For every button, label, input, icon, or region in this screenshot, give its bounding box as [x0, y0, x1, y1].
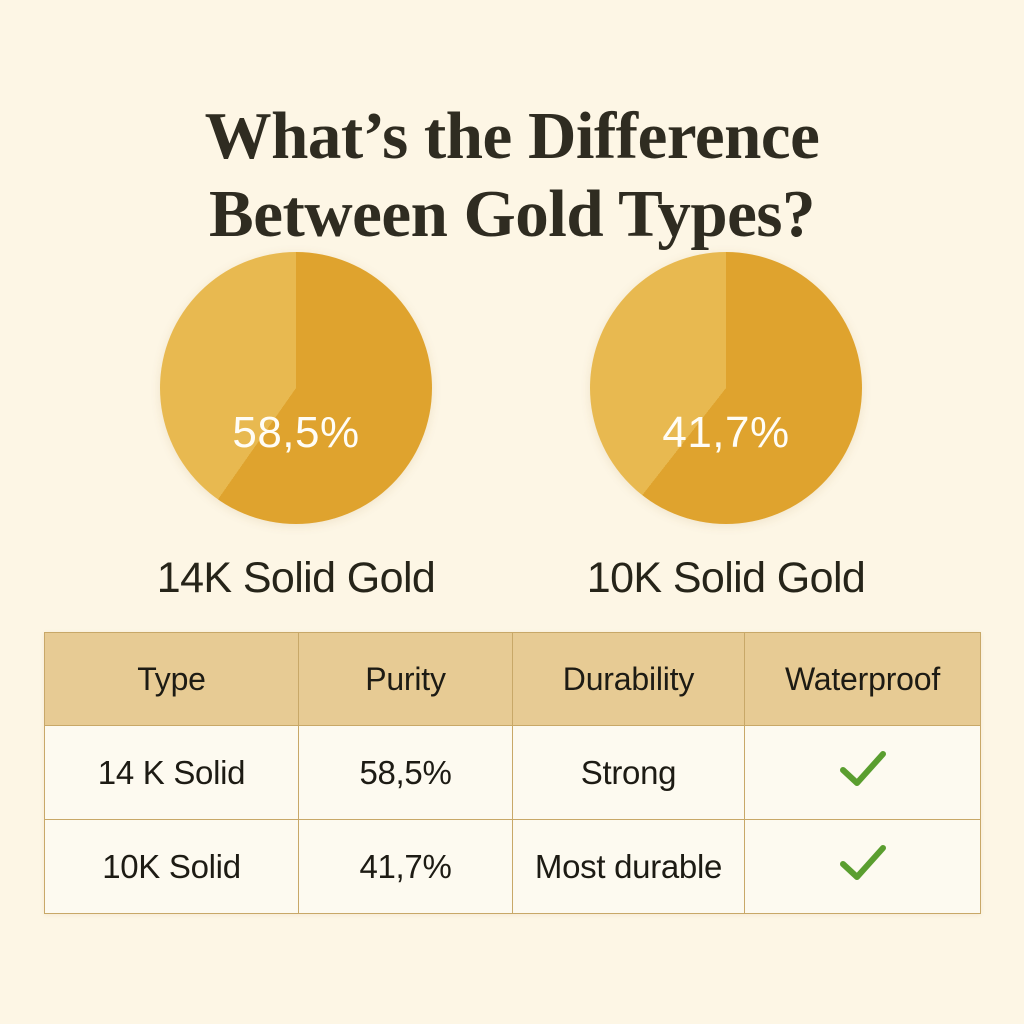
pie-label-14k: 58,5% — [160, 409, 432, 457]
column-header-waterproof: Waterproof — [745, 633, 981, 726]
check-icon — [839, 843, 887, 883]
table-header: Type Purity Durability Waterproof — [45, 633, 981, 726]
column-header-purity: Purity — [299, 633, 513, 726]
page-title: What’s the Difference Between Gold Types… — [0, 97, 1024, 253]
comparison-table: Type Purity Durability Waterproof 14 K S… — [44, 632, 981, 914]
pie-chart-14k: 58,5% — [160, 252, 432, 524]
chart-block-10k: 41,7% 10K Solid Gold — [556, 252, 896, 603]
pie-chart-10k: 41,7% — [590, 252, 862, 524]
cell-type: 10K Solid — [45, 820, 299, 914]
table-body: 14 K Solid 58,5% Strong 10K Solid 41,7% … — [45, 726, 981, 914]
page-title-line-1: What’s the Difference — [0, 97, 1024, 175]
column-header-type: Type — [45, 633, 299, 726]
chart-block-14k: 58,5% 14K Solid Gold — [126, 252, 466, 603]
table-header-row: Type Purity Durability Waterproof — [45, 633, 981, 726]
cell-type: 14 K Solid — [45, 726, 299, 820]
cell-durability: Strong — [513, 726, 745, 820]
pie-chart-row: 58,5% 14K Solid Gold 41,7% 10K Solid Gol… — [0, 252, 1024, 602]
cell-durability: Most durable — [513, 820, 745, 914]
table-row: 10K Solid 41,7% Most durable — [45, 820, 981, 914]
chart-caption-10k: 10K Solid Gold — [556, 554, 896, 603]
page-title-line-2: Between Gold Types? — [0, 175, 1024, 253]
cell-waterproof — [745, 820, 981, 914]
cell-purity: 41,7% — [299, 820, 513, 914]
table-row: 14 K Solid 58,5% Strong — [45, 726, 981, 820]
pie-slices-14k — [160, 252, 432, 524]
column-header-durability: Durability — [513, 633, 745, 726]
pie-slices-10k — [590, 252, 862, 524]
infographic-page: What’s the Difference Between Gold Types… — [0, 0, 1024, 1024]
check-icon — [839, 749, 887, 789]
cell-purity: 58,5% — [299, 726, 513, 820]
chart-caption-14k: 14K Solid Gold — [126, 554, 466, 603]
cell-waterproof — [745, 726, 981, 820]
pie-label-10k: 41,7% — [590, 409, 862, 457]
